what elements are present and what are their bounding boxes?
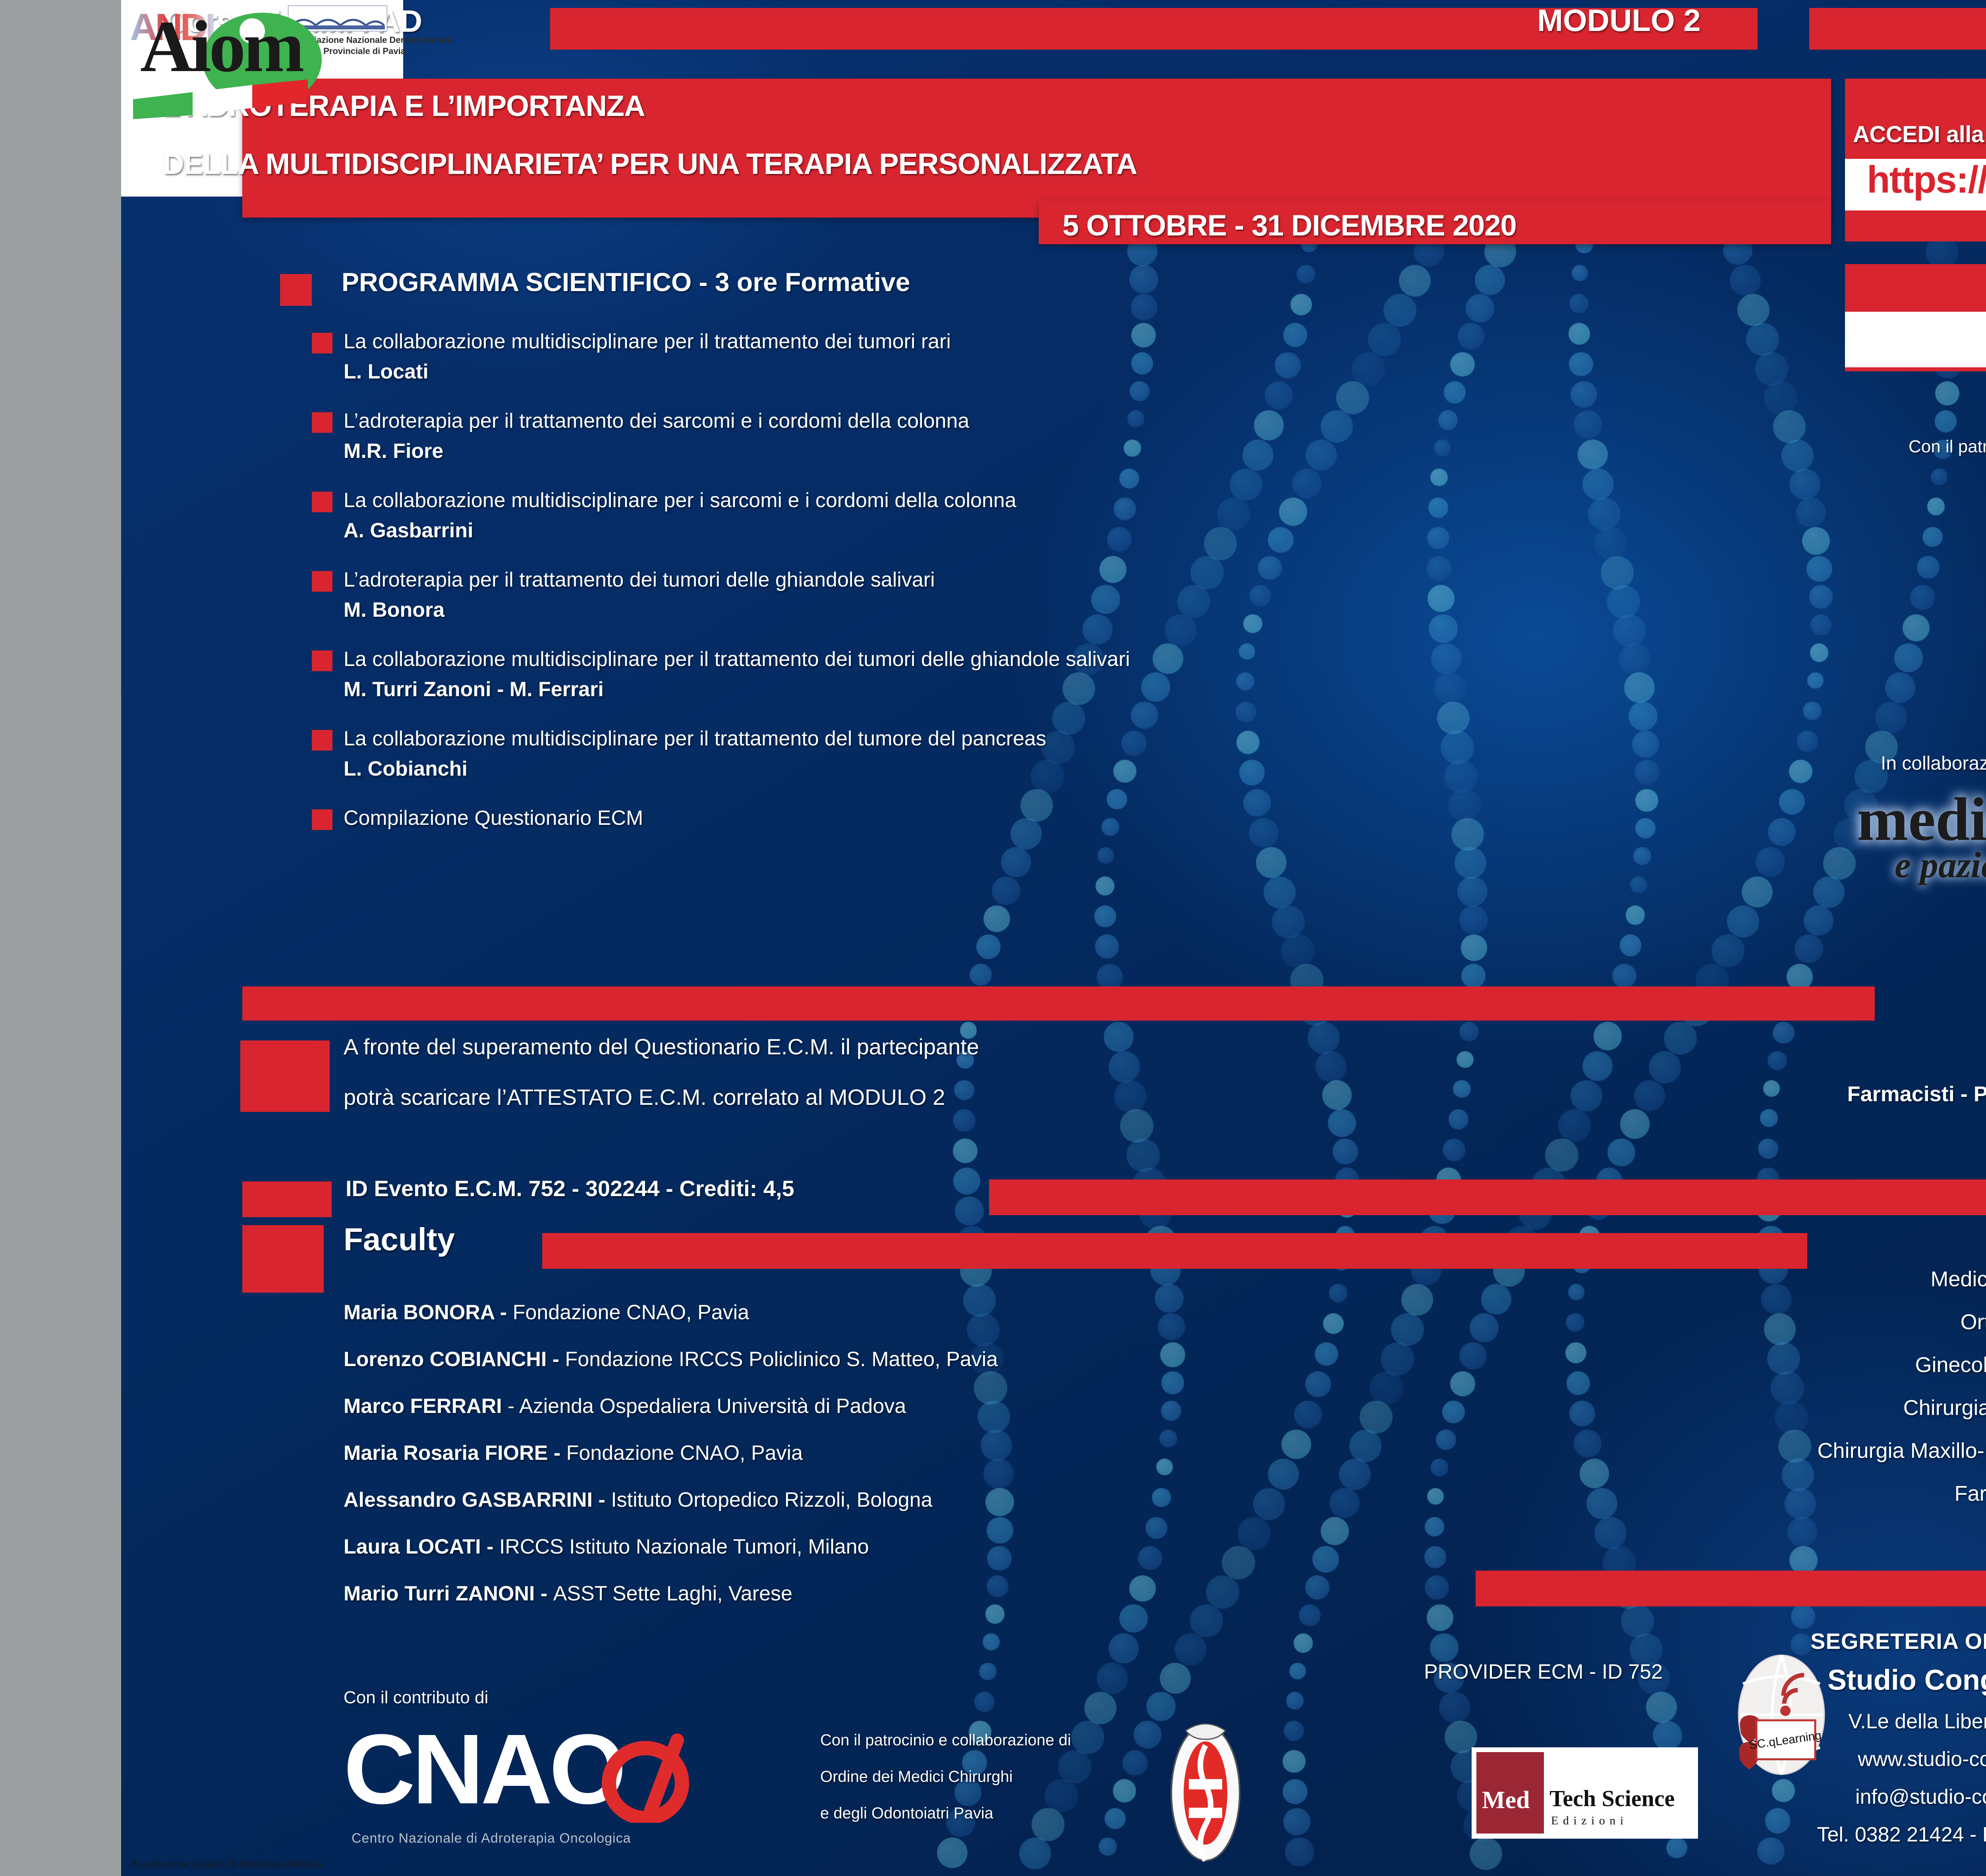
faculty-member-affiliation: Fondazione CNAO, Pavia [513,1301,749,1324]
attestato-marker-redbar [240,1040,330,1112]
program-item-title: La collaborazione multidisciplinare per … [344,488,1016,512]
discipline-line: Ginecologia - Pediatria - Urologia - Odo… [1915,1353,1986,1377]
program-bullet [312,492,332,512]
cnao-logo: CNAO [344,1720,623,1819]
faculty-member: Maria Rosaria FIORE - Fondazione CNAO, P… [344,1441,803,1465]
medtech-logo: Med Tech Science E d i z i o n i [1472,1747,1698,1839]
secretariat-topbar [1476,1596,1986,1606]
program-bullet [312,571,332,592]
program-bullet [312,650,332,671]
attestato-line-1: A fronte del superamento del Questionari… [344,1034,979,1060]
program-item-speaker: M. Bonora [344,598,444,622]
discipline-line: Chirurgia Plastica - Fisica Sanitaria - … [1903,1395,1986,1420]
cnao-logo-text: CNAO [344,1714,623,1824]
faculty-member-name: Mario Turri ZANONI - [344,1582,553,1605]
faculty-member-name: Lorenzo COBIANCHI - [344,1348,565,1371]
program-item-title: La collaborazione multidisciplinare per … [344,727,1046,751]
faculty-redbar [542,1233,1807,1269]
aiom-caption: Associazione Italiana di Oncologia Medic… [130,1858,322,1870]
faculty-member-affiliation: Istituto Ortopedico Rizzoli, Bologna [611,1488,932,1511]
secretariat-label: SEGRETERIA ORGANIZZATIVA [1742,1628,1986,1654]
figure-professionali-redbar [242,986,1875,1021]
program-bullet [312,333,332,353]
program-item-speaker: M. Turri Zanoni - M. Ferrari [344,677,604,701]
discipline-line: Farmacia - Neurologia - Chirurgia Genera… [1955,1481,1986,1506]
discipline-line: Chirurgia Maxillo-Facciale - Medicina fi… [1818,1438,1986,1463]
medtech-part-2: Tech Science [1549,1785,1675,1812]
program-bullet [312,730,332,751]
program-item-speaker: L. Locati [344,360,429,384]
contributo-label: Con il contributo di [344,1688,488,1708]
faculty-member-affiliation: Fondazione CNAO, Pavia [566,1442,803,1465]
faculty-member-name: Laura LOCATI - [344,1535,499,1558]
access-code-input[interactable] [1845,312,1986,367]
platform-access-label: ACCEDI alla PIATTAFORMA e REGISTRATI: [1853,121,1986,148]
program-item-title: L’adroterapia per il trattamento dei sar… [344,409,969,433]
secretariat-email[interactable]: info@studio-congressi.com [1742,1785,1986,1809]
aiom-acronym: Aiom [140,10,302,83]
module-label: MODULO 2 [1537,2,1701,39]
program-item-speaker: M.R. Fiore [344,439,443,463]
program-item-speaker: A. Gasbarrini [344,519,473,542]
faculty-member: Mario Turri ZANONI - ASST Sette Laghi, V… [344,1582,792,1606]
program-heading-marker [280,274,312,306]
id-evento: ID Evento E.C.M. 752 - 302244 - Crediti:… [346,1175,794,1201]
patrocinio-collaborazione-line: Con il patrocinio e collaborazione di [820,1731,1071,1749]
program-bullet [312,412,332,433]
faculty-member-affiliation: - Azienda Ospedaliera Università di Pado… [508,1395,906,1418]
secretariat-name: Studio Congressi S.r.l. [1742,1664,1986,1697]
program-item-title: Compilazione Questionario ECM [344,806,643,830]
program-bullet [312,809,332,830]
patrocinio-collaborazione-line: Ordine dei Medici Chirurghi [820,1768,1013,1786]
program-heading: PROGRAMMA SCIENTIFICO - 3 ore Formative [342,267,910,297]
faculty-member: Maria BONORA - Fondazione CNAO, Pavia [344,1301,749,1324]
faculty-marker-redbar [242,1225,324,1293]
discipline-line: Ortopedia - Oculistica - Otorinolaringoi… [1961,1310,1986,1334]
secretariat-phone: Tel. 0382 21424 - Fax 0382 303082 [1742,1823,1986,1847]
figure-professionali-line: Farmacisti - Psicologi - Fisici Sanitari… [1847,1082,1986,1106]
program-item-title: L’adroterapia per il trattamento dei tum… [344,568,935,592]
poster-canvas: CNAO Corso E.C.M. FAD MODULO 2 L’ADROTER… [121,0,1986,1876]
faculty-member-affiliation: ASST Sette Laghi, Varese [553,1582,792,1605]
discipline-heading: Discipline di Riferimento: [1841,1235,1986,1260]
id-evento-redbar [989,1179,1986,1215]
header-top-redbar-right [1809,8,1986,50]
medico-e-paziente-logo: medico e paziente [1857,790,1986,886]
faculty-member: Alessandro GASBARRINI - Istituto Ortoped… [344,1488,933,1512]
figure-professionali-heading: Figure Professionali: [1861,985,1986,1009]
faculty-member-name: Marco FERRARI [344,1395,508,1418]
title-line-2: DELLA MULTIDISCIPLINARIETA’ PER UNA TERA… [163,147,1137,181]
faculty-member: Laura LOCATI - IRCCS Istituto Nazionale … [344,1535,869,1559]
collaboration-heading: In collaborazione con: [1881,753,1986,774]
faculty-member: Marco FERRARI - Azienda Ospedaliera Univ… [344,1394,906,1418]
faculty-heading: Faculty [344,1221,455,1258]
secretariat-website[interactable]: www.studio-congressi.com [1742,1747,1986,1771]
patronage-heading: Con il patrocinio di: [1909,437,1986,457]
attestato-line-2: potrà scaricare l’ATTESTATO E.C.M. corre… [344,1084,945,1110]
provider-ecm: PROVIDER ECM - ID 752 [1424,1660,1663,1684]
program-item-title: La collaborazione multidisciplinare per … [344,330,951,353]
discipline-line: Medicina Generale - Oncologia - Radioter… [1930,1267,1986,1291]
faculty-member-name: Maria BONORA - [344,1301,513,1324]
medtech-part-3: E d i z i o n i [1551,1814,1624,1828]
medtech-part-1: Med [1482,1786,1530,1814]
secretariat-address: V.Le della Libertà, 17 - Pavia [1742,1710,1986,1733]
patrocinio-collaborazione-line: e degli Odontoiatri Pavia [820,1805,993,1822]
cnao-alpha-icon [598,1724,701,1823]
poster-root: CNAO Corso E.C.M. FAD MODULO 2 L’ADROTER… [0,0,1986,1876]
e-paziente-word: e paziente [1895,844,1986,886]
faculty-member-affiliation: Fondazione IRCCS Policlinico S. Matteo, … [565,1348,998,1371]
medico-word: medico [1857,790,1986,849]
faculty-member-name: Maria Rosaria FIORE - [344,1442,566,1465]
id-evento-marker-redbar [242,1181,332,1217]
platform-url[interactable]: https://sc.qlearning.it [1867,158,1986,202]
faculty-member-name: Alessandro GASBARRINI - [344,1488,611,1511]
faculty-member-affiliation: IRCCS Istituto Nazionale Tumori, Milano [499,1535,869,1558]
cnao-subtitle: Centro Nazionale di Adroterapia Oncologi… [352,1831,631,1846]
course-dates: 5 OTTOBRE - 31 DICEMBRE 2020 [1063,208,1517,242]
program-item-title: La collaborazione multidisciplinare per … [344,647,1130,671]
program-item-speaker: L. Cobianchi [344,757,468,781]
ordine-medici-crest-icon [1162,1708,1249,1866]
faculty-member: Lorenzo COBIANCHI - Fondazione IRCCS Pol… [344,1347,998,1371]
